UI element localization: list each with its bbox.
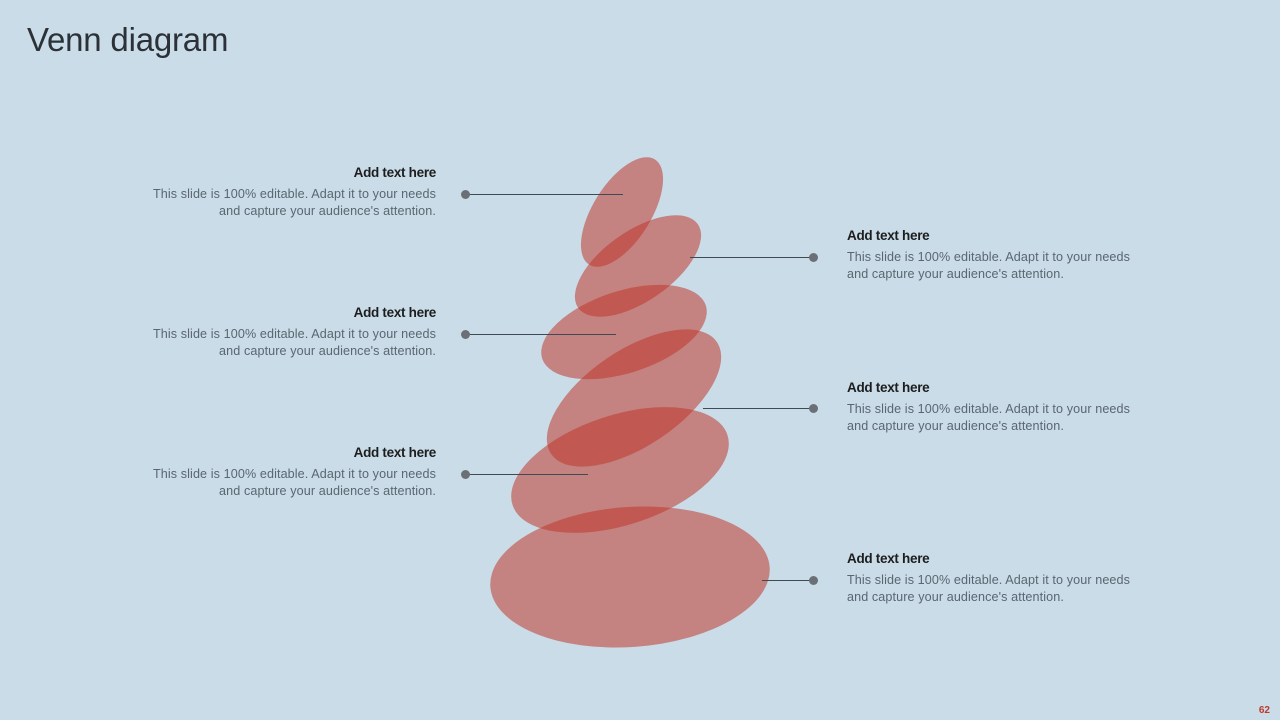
connector-line-1 (468, 194, 623, 195)
callout-1-heading: Add text here (136, 165, 436, 180)
callout-5-heading: Add text here (136, 445, 436, 460)
callout-2[interactable]: Add text here This slide is 100% editabl… (847, 228, 1147, 282)
connector-line-5 (468, 474, 588, 475)
callout-4-body: This slide is 100% editable. Adapt it to… (847, 401, 1147, 434)
connector-dot-6[interactable] (809, 576, 818, 585)
callout-6-body: This slide is 100% editable. Adapt it to… (847, 572, 1147, 605)
connector-line-3 (468, 334, 616, 335)
connector-dot-3[interactable] (461, 330, 470, 339)
callout-5-body: This slide is 100% editable. Adapt it to… (136, 466, 436, 499)
connector-dot-1[interactable] (461, 190, 470, 199)
connector-line-4 (703, 408, 813, 409)
callout-5[interactable]: Add text here This slide is 100% editabl… (136, 445, 436, 499)
page-title: Venn diagram (27, 21, 228, 59)
callout-1[interactable]: Add text here This slide is 100% editabl… (136, 165, 436, 219)
callout-2-heading: Add text here (847, 228, 1147, 243)
connector-dot-2[interactable] (809, 253, 818, 262)
page-number: 62 (1259, 705, 1270, 716)
callout-4[interactable]: Add text here This slide is 100% editabl… (847, 380, 1147, 434)
connector-dot-5[interactable] (461, 470, 470, 479)
connector-dot-4[interactable] (809, 404, 818, 413)
callout-3-heading: Add text here (136, 305, 436, 320)
callout-1-body: This slide is 100% editable. Adapt it to… (136, 186, 436, 219)
venn-ellipse-group (485, 144, 774, 657)
callout-3[interactable]: Add text here This slide is 100% editabl… (136, 305, 436, 359)
callout-3-body: This slide is 100% editable. Adapt it to… (136, 326, 436, 359)
connector-line-2 (690, 257, 812, 258)
callout-6-heading: Add text here (847, 551, 1147, 566)
callout-2-body: This slide is 100% editable. Adapt it to… (847, 249, 1147, 282)
slide-canvas: Venn diagram Add text here This slide is… (0, 0, 1280, 720)
connector-line-6 (762, 580, 814, 581)
callout-6[interactable]: Add text here This slide is 100% editabl… (847, 551, 1147, 605)
callout-4-heading: Add text here (847, 380, 1147, 395)
venn-diagram (460, 140, 820, 660)
